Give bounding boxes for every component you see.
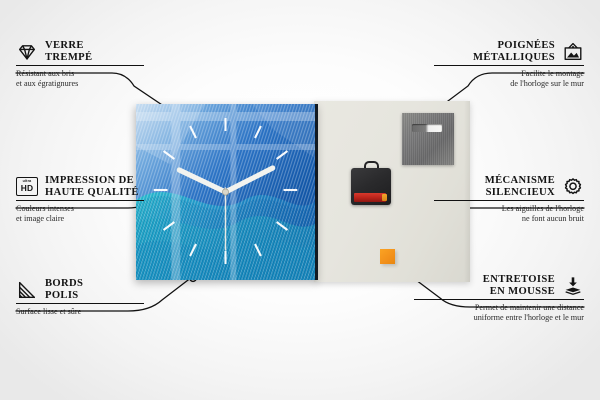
feature-impression-haute-qualite: ultra HD IMPRESSION DE HAUTE QUALITÉ Cou… xyxy=(16,175,144,224)
infographic-canvas: VERRE TREMPÉ Résistant aux bris et aux é… xyxy=(0,0,600,400)
clock-face-glass-panel xyxy=(136,104,318,280)
ultra-hd-icon: ultra HD xyxy=(16,177,38,196)
battery xyxy=(354,193,386,202)
feature-divider xyxy=(414,299,584,300)
feature-title: POIGNÉES MÉTALLIQUES xyxy=(473,40,555,63)
feature-entretoise-en-mousse: ENTRETOISE EN MOUSSE Permet de maintenir… xyxy=(414,274,584,323)
feature-divider xyxy=(434,65,584,66)
feature-header: POIGNÉES MÉTALLIQUES xyxy=(434,40,584,63)
feature-verre-trempe: VERRE TREMPÉ Résistant aux bris et aux é… xyxy=(16,40,144,89)
feature-description: Permet de maintenir une distance uniform… xyxy=(414,303,584,323)
feature-title: BORDS POLIS xyxy=(45,278,83,301)
feature-header: VERRE TREMPÉ xyxy=(16,40,144,63)
feature-description: Résistant aux bris et aux égratignures xyxy=(16,69,144,89)
hanger-slot xyxy=(412,124,442,132)
feature-header: ENTRETOISE EN MOUSSE xyxy=(414,274,584,297)
feature-title: VERRE TREMPÉ xyxy=(45,40,92,63)
feature-description: Facilite le montage de l'horloge sur le … xyxy=(434,69,584,89)
feature-description: Couleurs intenses et image claire xyxy=(16,204,144,224)
feature-description: Surface lisse et sûre xyxy=(16,307,144,317)
feature-bords-polis: BORDS POLIS Surface lisse et sûre xyxy=(16,278,144,317)
ultra-hd-icon-main-text: HD xyxy=(21,184,34,192)
feature-divider xyxy=(16,303,144,304)
feature-mecanisme-silencieux: MÉCANISME SILENCIEUX Les aiguilles de l'… xyxy=(434,175,584,224)
foam-spacer xyxy=(380,249,395,264)
polished-edge-icon xyxy=(16,279,38,301)
diamond-icon xyxy=(16,41,38,63)
product-image xyxy=(136,101,470,282)
mechanism-body xyxy=(351,168,391,205)
feature-poignees-metalliques: POIGNÉES MÉTALLIQUES Facilite le montage… xyxy=(434,40,584,89)
gear-icon xyxy=(562,176,584,198)
feature-divider xyxy=(16,65,144,66)
feature-header: ultra HD IMPRESSION DE HAUTE QUALITÉ xyxy=(16,175,144,198)
feature-header: MÉCANISME SILENCIEUX xyxy=(434,175,584,198)
feature-header: BORDS POLIS xyxy=(16,278,144,301)
foam-spacer-icon xyxy=(562,275,584,297)
feature-description: Les aiguilles de l'horloge ne font aucun… xyxy=(434,204,584,224)
feature-title: ENTRETOISE EN MOUSSE xyxy=(483,274,555,297)
feature-title: IMPRESSION DE HAUTE QUALITÉ xyxy=(45,175,139,198)
feature-title: MÉCANISME SILENCIEUX xyxy=(485,175,555,198)
wall-hanger-icon xyxy=(562,41,584,63)
quartz-mechanism xyxy=(351,161,391,205)
feature-divider xyxy=(16,200,144,201)
metal-hanger-plate xyxy=(402,113,454,165)
feature-divider xyxy=(434,200,584,201)
